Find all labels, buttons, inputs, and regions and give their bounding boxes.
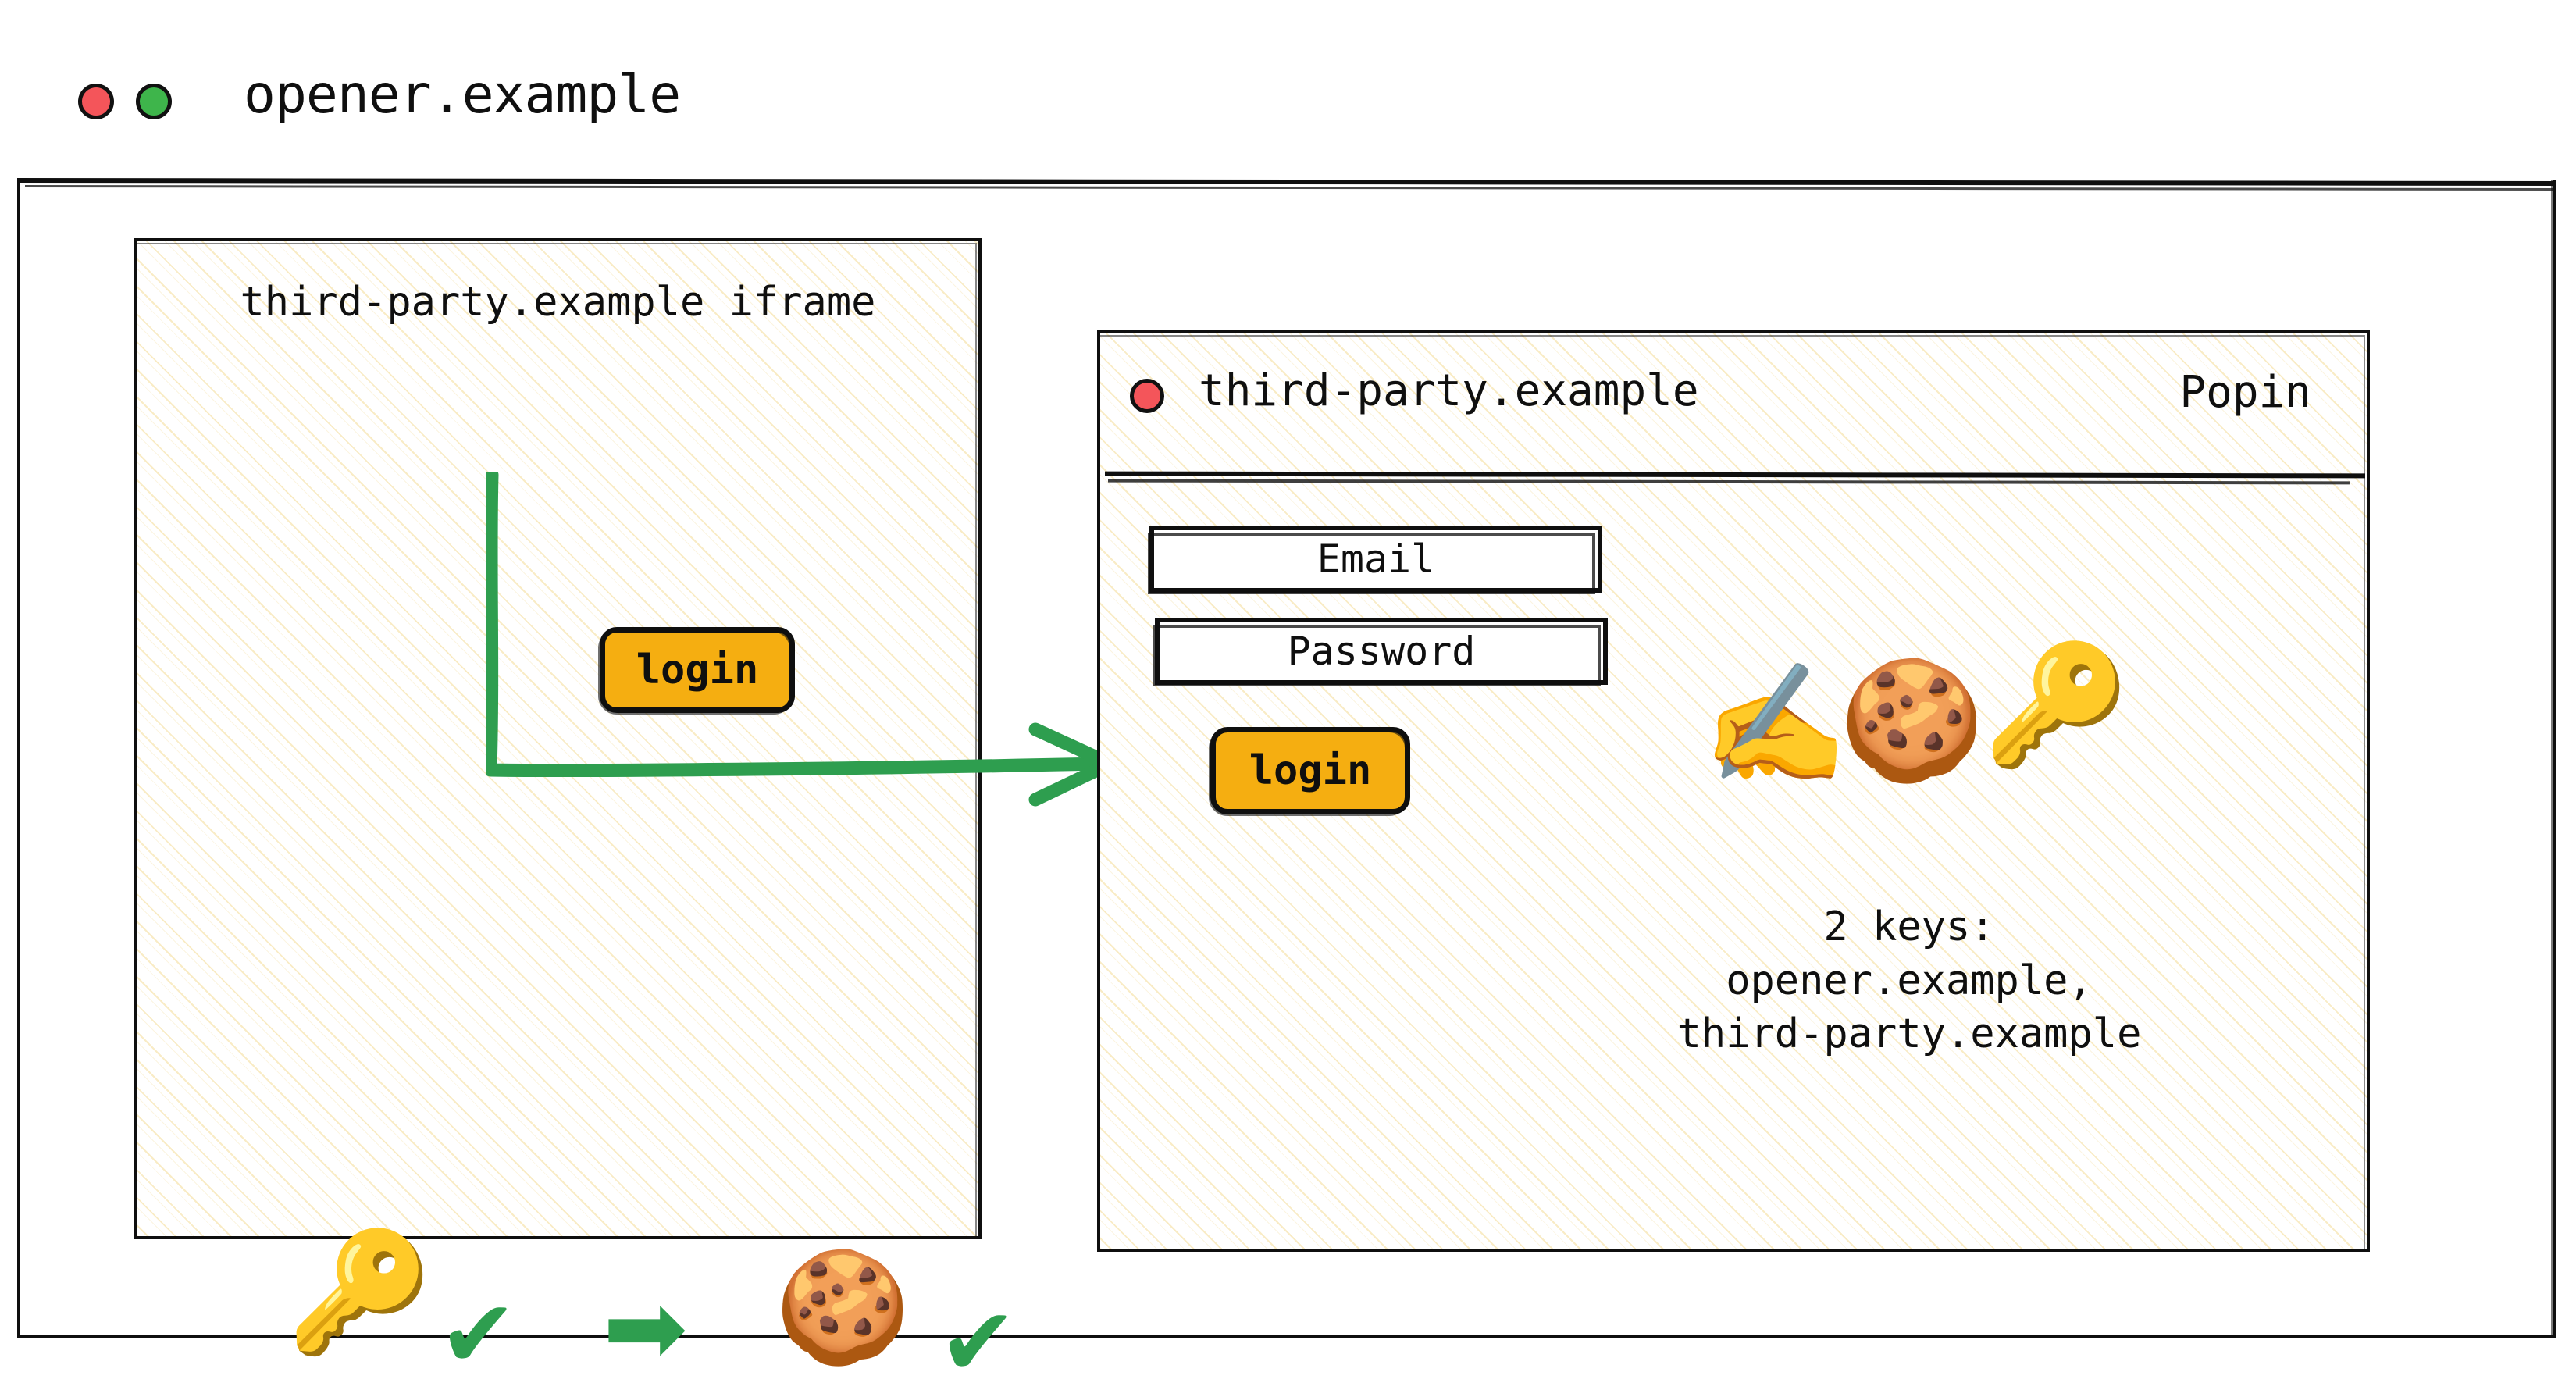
cookie-icon: 🍪 [1839, 662, 1985, 779]
popup-header: third-party.example Popin [1097, 330, 2370, 472]
cookie-icon: 🍪 [775, 1253, 910, 1363]
window-maximize-dot-icon[interactable] [136, 84, 172, 119]
email-field-value: Email [1317, 536, 1435, 582]
third-party-popup-panel: third-party.example Popin Email Password… [1097, 330, 2370, 1252]
window-title: opener.example [244, 64, 680, 126]
iframe-panel-border [134, 238, 982, 1239]
iframe-login-button-label: login [636, 647, 759, 693]
window-title-bar: opener.example [17, 19, 2556, 180]
window-close-dot-icon[interactable] [78, 84, 114, 119]
popup-close-dot-icon[interactable] [1130, 379, 1164, 413]
popup-login-button-label: login [1249, 747, 1372, 794]
third-party-iframe-panel: third-party.example iframe login 🔑 ✔ ➡ 🍪… [134, 238, 982, 1239]
browser-window: opener.example third-party.example ifram… [17, 19, 2556, 1338]
password-field-value: Password [1288, 629, 1476, 674]
cookie-available-check-icon: ✔ [939, 1296, 1017, 1390]
password-field[interactable]: Password [1155, 618, 1608, 685]
storage-flow-arrow-icon: ➡ [603, 1277, 688, 1378]
key-available-check-icon: ✔ [439, 1288, 518, 1382]
popup-title: third-party.example [1199, 365, 1699, 416]
email-field[interactable]: Email [1149, 526, 1602, 593]
key-icon: 🔑 [1983, 647, 2129, 764]
iframe-panel-title: third-party.example iframe [134, 279, 982, 326]
writing-hand-icon: ✍️ [1702, 666, 1848, 783]
popup-login-button[interactable]: login [1210, 727, 1410, 814]
keys-note: 2 keys: opener.example, third-party.exam… [1644, 900, 2175, 1061]
popup-kind-label: Popin [2179, 367, 2311, 418]
iframe-login-button[interactable]: login [600, 627, 795, 713]
key-icon: 🔑 [287, 1234, 433, 1351]
